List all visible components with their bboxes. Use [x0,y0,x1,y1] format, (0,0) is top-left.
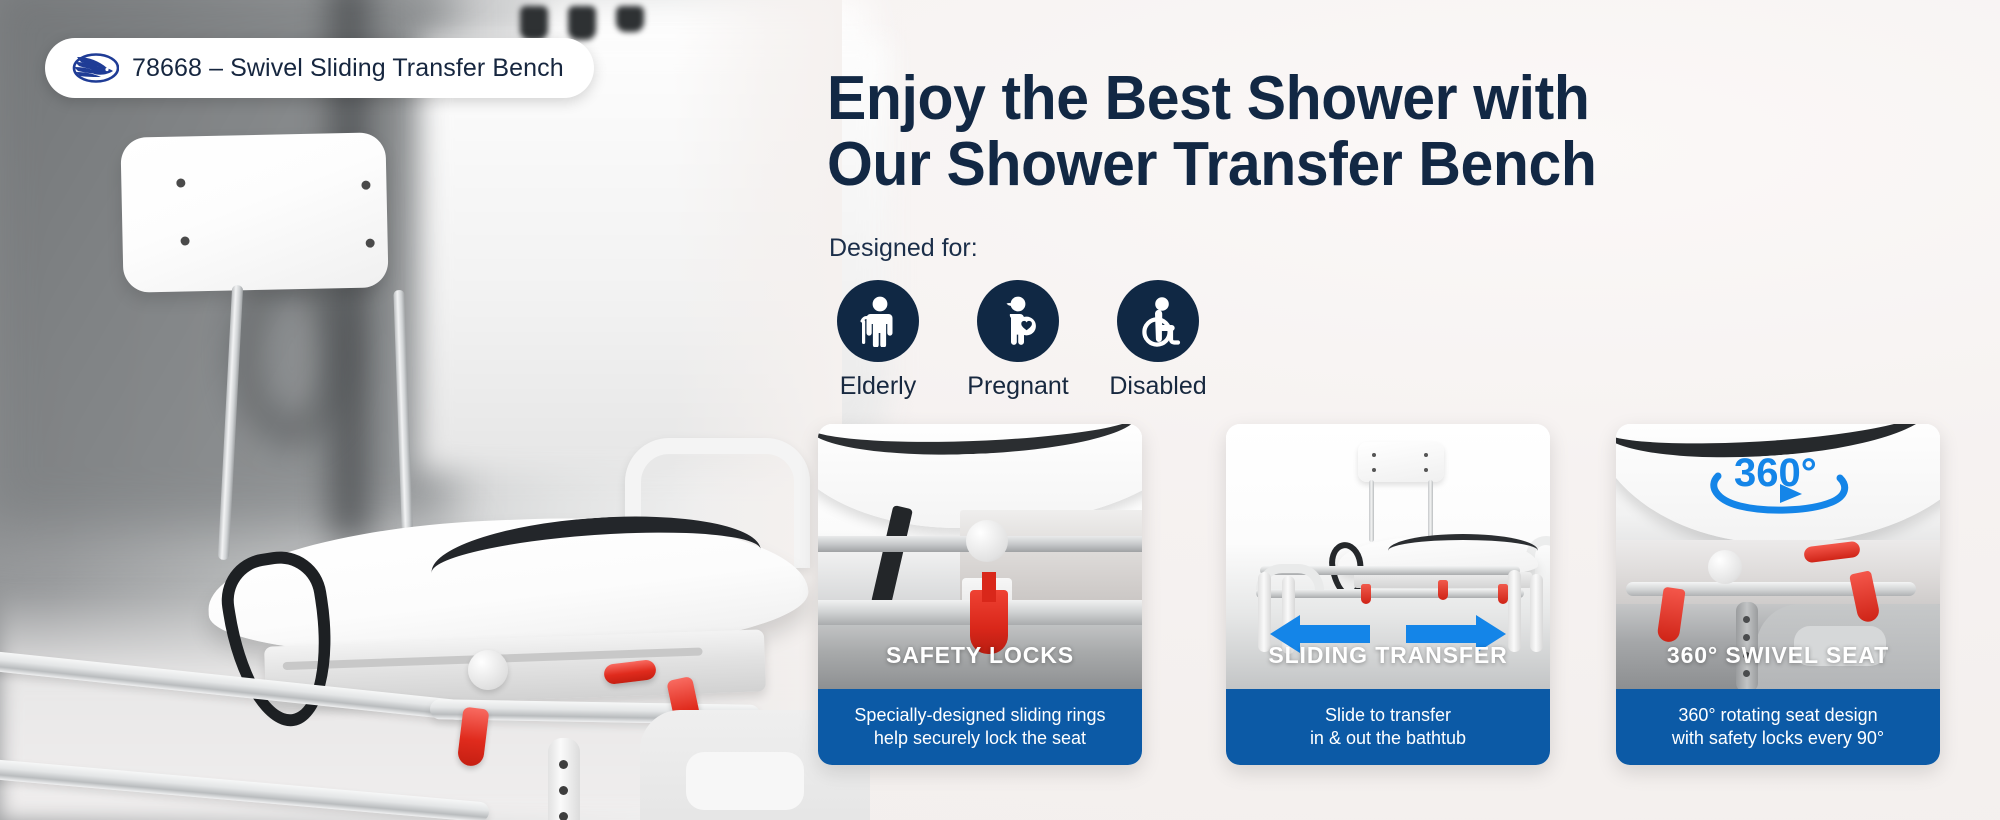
adjustable-leg [548,738,580,820]
feature-card-swivel-seat: 360° 360° SWIVEL SEAT 360° rotating seat… [1616,424,1940,765]
sliding-transfer-photo: SLIDING TRANSFER [1226,424,1550,689]
content-column: Enjoy the Best Shower with Our Shower Tr… [818,0,2000,820]
audience-icon-row: Elderly Pregnant [826,280,1210,401]
leg-rear-right [1530,574,1543,652]
product-title-badge: 78668 – Swivel Sliding Transfer Bench [45,38,594,98]
backrest-post-right [393,290,413,555]
white-knob [966,520,1008,562]
audience-label-elderly: Elderly [840,372,916,401]
elderly-person-with-cane-icon [837,280,919,362]
headline: Enjoy the Best Shower with Our Shower Tr… [827,66,1777,197]
caption-line-1: Slide to transfer [1325,705,1451,725]
swivel-seat-photo: 360° 360° SWIVEL SEAT [1616,424,1940,689]
red-lock-lever-left [457,707,490,768]
designed-for-label: Designed for: [829,234,978,263]
product-marketing-banner: 78668 – Swivel Sliding Transfer Bench En… [0,0,2000,820]
safety-lock-photo: SAFETY LOCKS [818,424,1142,689]
audience-label-disabled: Disabled [1109,372,1206,401]
caption-line-2: help securely lock the seat [874,728,1086,748]
feature-title-sliding-transfer: SLIDING TRANSFER [1226,642,1550,689]
transfer-bench-product-photo [0,90,820,820]
headline-line-1: Enjoy the Best Shower with [827,64,1589,133]
audience-item-elderly: Elderly [826,280,930,401]
eagle-logo-icon [67,51,119,85]
wheelchair-accessible-icon [1117,280,1199,362]
caption-line-1: Specially-designed sliding rings [854,705,1105,725]
headline-line-2: Our Shower Transfer Bench [827,132,1777,198]
backrest-post-left [1369,480,1374,542]
product-title-text: 78668 – Swivel Sliding Transfer Bench [132,54,564,83]
side-strap [871,505,913,607]
backrest [1358,442,1444,482]
feature-title-swivel-seat: 360° SWIVEL SEAT [1616,642,1940,689]
caption-line-1: 360° rotating seat design [1678,705,1877,725]
feature-caption-swivel-seat: 360° rotating seat design with safety lo… [1616,689,1940,765]
feature-title-safety-locks: SAFETY LOCKS [818,642,1142,689]
audience-item-disabled: Disabled [1106,280,1210,401]
white-swivel-knob [468,650,508,690]
audience-item-pregnant: Pregnant [966,280,1070,401]
red-lock-lever-left [1361,584,1371,604]
slide-rail-bottom [1256,589,1524,598]
svg-text:360°: 360° [1734,451,1817,495]
feature-card-sliding-transfer: SLIDING TRANSFER Slide to transfer in & … [1226,424,1550,765]
slide-rail-bottom [0,757,490,820]
caption-line-2: with safety locks every 90° [1672,728,1884,748]
feature-card-safety-locks: SAFETY LOCKS Specially-designed sliding … [818,424,1142,765]
feature-caption-safety-locks: Specially-designed sliding rings help se… [818,689,1142,765]
seat-backrest [120,132,388,293]
feature-card-row: SAFETY LOCKS Specially-designed sliding … [818,424,2000,769]
red-lock-lever-right [1498,584,1508,604]
red-lock-lever-mid [1438,580,1448,600]
white-swivel-knob [1708,550,1742,584]
backrest-post-left [218,285,243,560]
360-degree-rotation-icon: 360° [1704,450,1854,522]
pregnant-person-icon [977,280,1059,362]
caption-line-2: in & out the bathtub [1310,728,1466,748]
feature-caption-sliding-transfer: Slide to transfer in & out the bathtub [1226,689,1550,765]
backrest-post-right [1428,480,1433,542]
audience-label-pregnant: Pregnant [967,372,1068,401]
